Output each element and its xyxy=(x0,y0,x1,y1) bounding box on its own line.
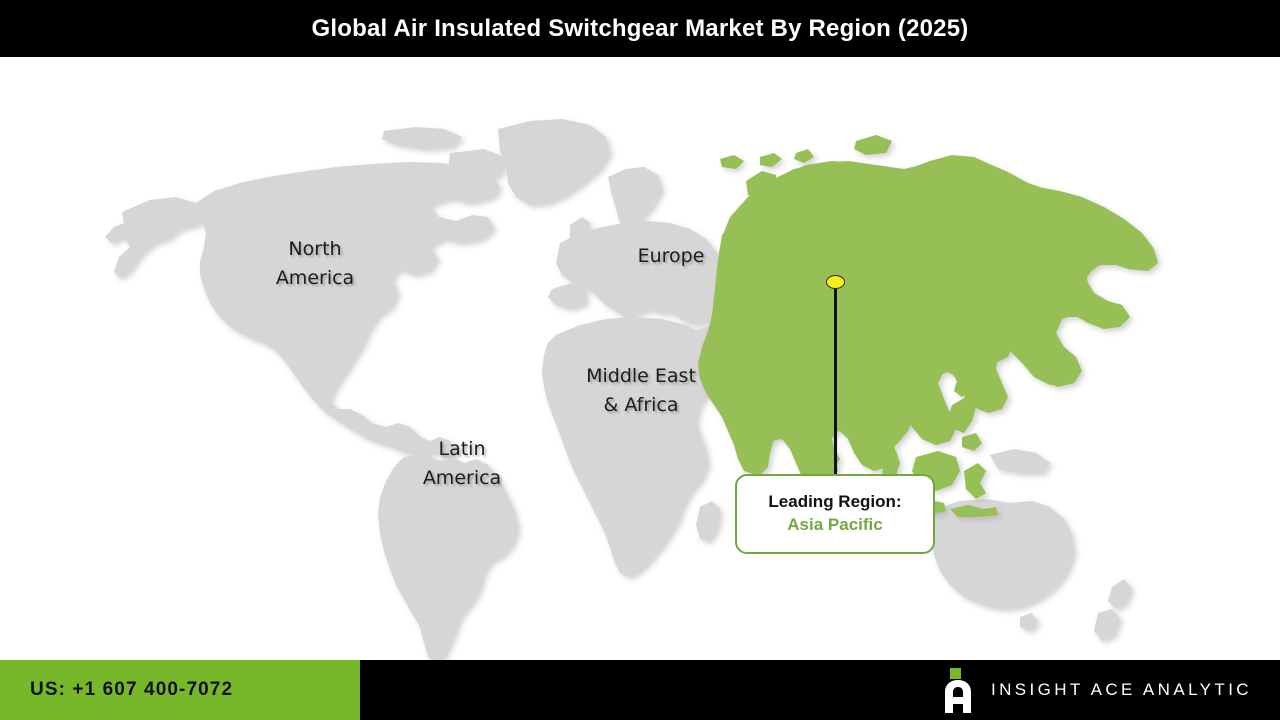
map-landmass-severnaya-zemlya xyxy=(854,135,892,155)
map-landmass-arctic-spots-2 xyxy=(760,153,782,167)
logo-letter-a-icon xyxy=(941,680,975,713)
map-landmass-alaska xyxy=(105,197,206,278)
map-landmass-north-america xyxy=(196,162,500,457)
map-landmass-south-america xyxy=(378,455,518,660)
world-map-container: North America Europe Middle East & Afric… xyxy=(0,57,1280,660)
logo-accent-square-icon xyxy=(950,668,961,679)
map-region-group-highlight-asia-pacific xyxy=(698,135,1158,517)
map-landmass-new-zealand-south xyxy=(1094,609,1120,641)
map-landmass-new-zealand xyxy=(1108,579,1132,609)
leading-region-callout: Leading Region: Asia Pacific xyxy=(735,474,935,554)
insight-ace-logo-icon xyxy=(941,667,975,713)
map-landmass-sulawesi xyxy=(964,463,986,499)
world-map-svg xyxy=(0,57,1280,660)
title-bar: Global Air Insulated Switchgear Market B… xyxy=(0,0,1280,57)
brand-lockup: INSIGHT ACE ANALYTIC xyxy=(941,660,1252,720)
footer-phone-number[interactable]: US: +1 607 400-7072 xyxy=(30,679,233,701)
map-landmass-scandinavia xyxy=(608,167,662,227)
map-landmass-arctic-islands xyxy=(382,127,462,149)
map-landmass-australia xyxy=(932,499,1074,609)
callout-title: Leading Region: xyxy=(768,491,901,514)
map-landmass-papua-new-guinea xyxy=(990,449,1050,473)
map-landmass-madagascar xyxy=(696,501,720,541)
map-landmass-iberia xyxy=(548,283,586,309)
map-landmass-greenland xyxy=(498,119,610,205)
map-landmass-arctic-spots-3 xyxy=(794,149,814,163)
brand-name-text: INSIGHT ACE ANALYTIC xyxy=(991,680,1252,700)
map-landmass-eurasia-block xyxy=(704,157,1156,483)
footer-bar: US: +1 607 400-7072 INSIGHT ACE ANALYTIC xyxy=(0,660,1280,720)
callout-region-value: Asia Pacific xyxy=(787,514,882,537)
map-landmass-tasmania xyxy=(1020,613,1038,631)
footer-phone-block[interactable]: US: +1 607 400-7072 xyxy=(0,660,360,720)
page-title: Global Air Insulated Switchgear Market B… xyxy=(312,15,969,43)
map-marker-dot xyxy=(826,275,845,289)
map-landmass-arctic-spots-1 xyxy=(720,155,744,169)
map-landmass-philippines-mindanao xyxy=(962,433,982,451)
